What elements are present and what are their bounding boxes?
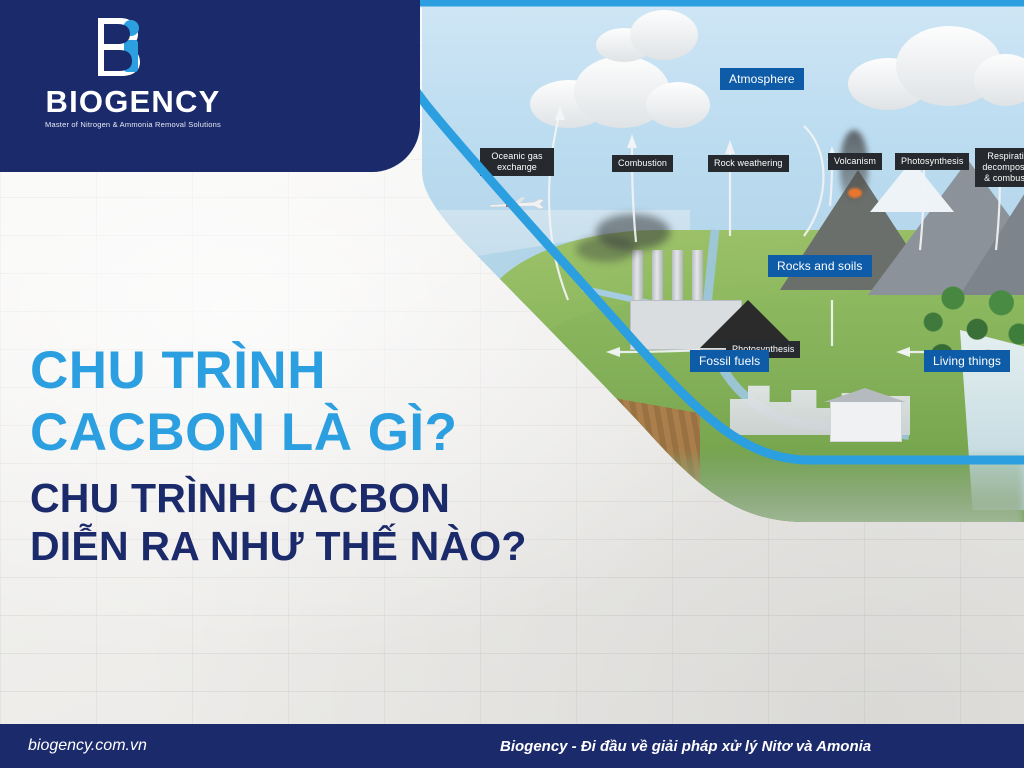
biogency-bi-monogram-icon [90, 16, 146, 78]
brand-name: BIOGENCY [28, 84, 238, 120]
footer-slogan: Biogency - Đi đầu về giải pháp xử lý Nit… [500, 738, 871, 755]
footer-bar: biogency.com.vn Biogency - Đi đầu về giả… [0, 724, 1024, 768]
headline-block: CHU TRÌNH CACBON LÀ GÌ? CHU TRÌNH CACBON… [30, 340, 670, 570]
headline-line-1: CHU TRÌNH [30, 340, 670, 402]
brand-tagline: Master of Nitrogen & Ammonia Removal Sol… [28, 120, 238, 129]
brand-header: BIOGENCY Master of Nitrogen & Ammonia Re… [0, 0, 420, 172]
poster-canvas: Oceanic gas exchange Combustion Rock wea… [0, 0, 1024, 768]
logo-lockup: BIOGENCY Master of Nitrogen & Ammonia Re… [28, 16, 238, 142]
headline-line-4: DIỄN RA NHƯ THẾ NÀO? [30, 522, 670, 570]
headline-line-2: CACBON LÀ GÌ? [30, 402, 670, 464]
headline-subblock: CHU TRÌNH CACBON DIỄN RA NHƯ THẾ NÀO? [30, 474, 670, 570]
headline-line-3: CHU TRÌNH CACBON [30, 474, 670, 522]
footer-website[interactable]: biogency.com.vn [28, 737, 147, 755]
